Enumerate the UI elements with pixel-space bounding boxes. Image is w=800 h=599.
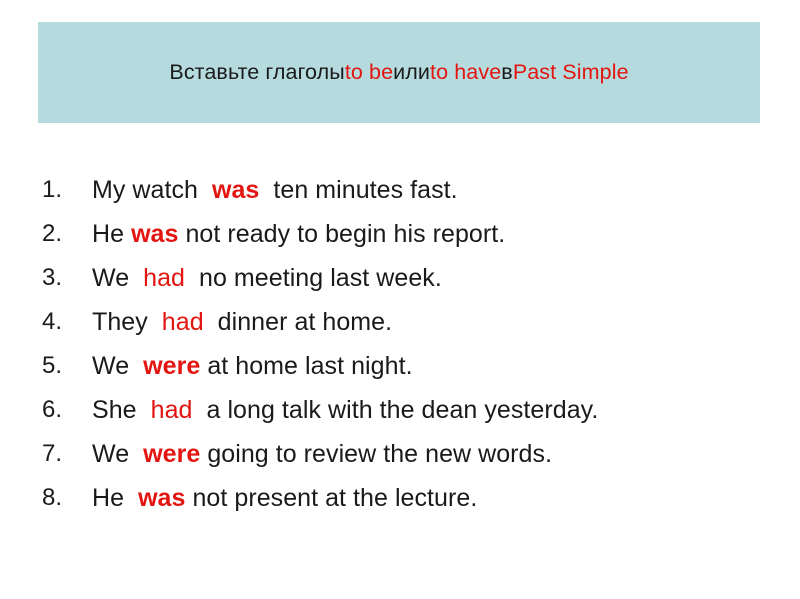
exercise-number: 2.: [42, 216, 84, 252]
page-title: Вставьте глаголы to be или to have в Pas…: [38, 22, 760, 123]
exercise-row: 3.We had no meeting last week.: [0, 260, 800, 304]
answer-word[interactable]: had: [143, 264, 185, 292]
exercise-row: 5.We were at home last night.: [0, 348, 800, 392]
exercise-row: 7.We were going to review the new words.: [0, 436, 800, 480]
sentence-text: ten minutes fast.: [259, 176, 457, 204]
exercise-number: 3.: [42, 260, 84, 296]
exercise-list: 1.My watch was ten minutes fast.2.He was…: [0, 172, 800, 524]
answer-word[interactable]: was: [212, 176, 259, 204]
sentence-text: They: [92, 308, 162, 336]
exercise-sentence: We had no meeting last week.: [92, 260, 442, 296]
sentence-text: not present at the lecture.: [185, 484, 477, 512]
sentence-text: We: [92, 264, 143, 292]
exercise-row: 6.She had a long talk with the dean yest…: [0, 392, 800, 436]
sentence-text: a long talk with the dean yesterday.: [193, 396, 599, 424]
sentence-text: My watch: [92, 176, 212, 204]
title-banner: Вставьте глаголы to be или to have в Pas…: [38, 22, 760, 123]
exercise-sentence: He was not present at the lecture.: [92, 480, 477, 516]
answer-word[interactable]: was: [138, 484, 185, 512]
title-segment-highlight: to be: [345, 60, 393, 86]
exercise-sentence: He was not ready to begin his report.: [92, 216, 505, 252]
exercise-number: 1.: [42, 172, 84, 208]
exercise-row: 8.He was not present at the lecture.: [0, 480, 800, 524]
answer-word[interactable]: was: [131, 220, 178, 248]
sentence-text: We: [92, 352, 143, 380]
exercise-number: 8.: [42, 480, 84, 516]
exercise-sentence: She had a long talk with the dean yester…: [92, 392, 598, 428]
answer-word[interactable]: were: [143, 440, 200, 468]
sentence-text: dinner at home.: [204, 308, 392, 336]
worksheet-slide: { "colors": { "banner_background": "#b6d…: [0, 0, 800, 599]
title-segment-highlight: to have: [430, 60, 501, 86]
answer-word[interactable]: were: [143, 352, 200, 380]
sentence-text: He: [92, 220, 131, 248]
answer-word[interactable]: had: [162, 308, 204, 336]
exercise-number: 5.: [42, 348, 84, 384]
exercise-row: 2.He was not ready to begin his report.: [0, 216, 800, 260]
exercise-sentence: They had dinner at home.: [92, 304, 392, 340]
sentence-text: at home last night.: [200, 352, 412, 380]
exercise-number: 4.: [42, 304, 84, 340]
title-segment-plain: в: [501, 60, 513, 86]
sentence-text: She: [92, 396, 151, 424]
sentence-text: no meeting last week.: [185, 264, 442, 292]
sentence-text: We: [92, 440, 143, 468]
exercise-row: 4.They had dinner at home.: [0, 304, 800, 348]
title-segment-highlight: Past Simple: [513, 60, 629, 86]
title-segment-plain: Вставьте глаголы: [169, 60, 344, 86]
title-segment-plain: или: [393, 60, 430, 86]
sentence-text: not ready to begin his report.: [178, 220, 505, 248]
exercise-sentence: We were going to review the new words.: [92, 436, 552, 472]
answer-word[interactable]: had: [151, 396, 193, 424]
exercise-number: 7.: [42, 436, 84, 472]
exercise-number: 6.: [42, 392, 84, 428]
sentence-text: He: [92, 484, 138, 512]
exercise-row: 1.My watch was ten minutes fast.: [0, 172, 800, 216]
sentence-text: going to review the new words.: [200, 440, 552, 468]
exercise-sentence: We were at home last night.: [92, 348, 413, 384]
exercise-sentence: My watch was ten minutes fast.: [92, 172, 458, 208]
